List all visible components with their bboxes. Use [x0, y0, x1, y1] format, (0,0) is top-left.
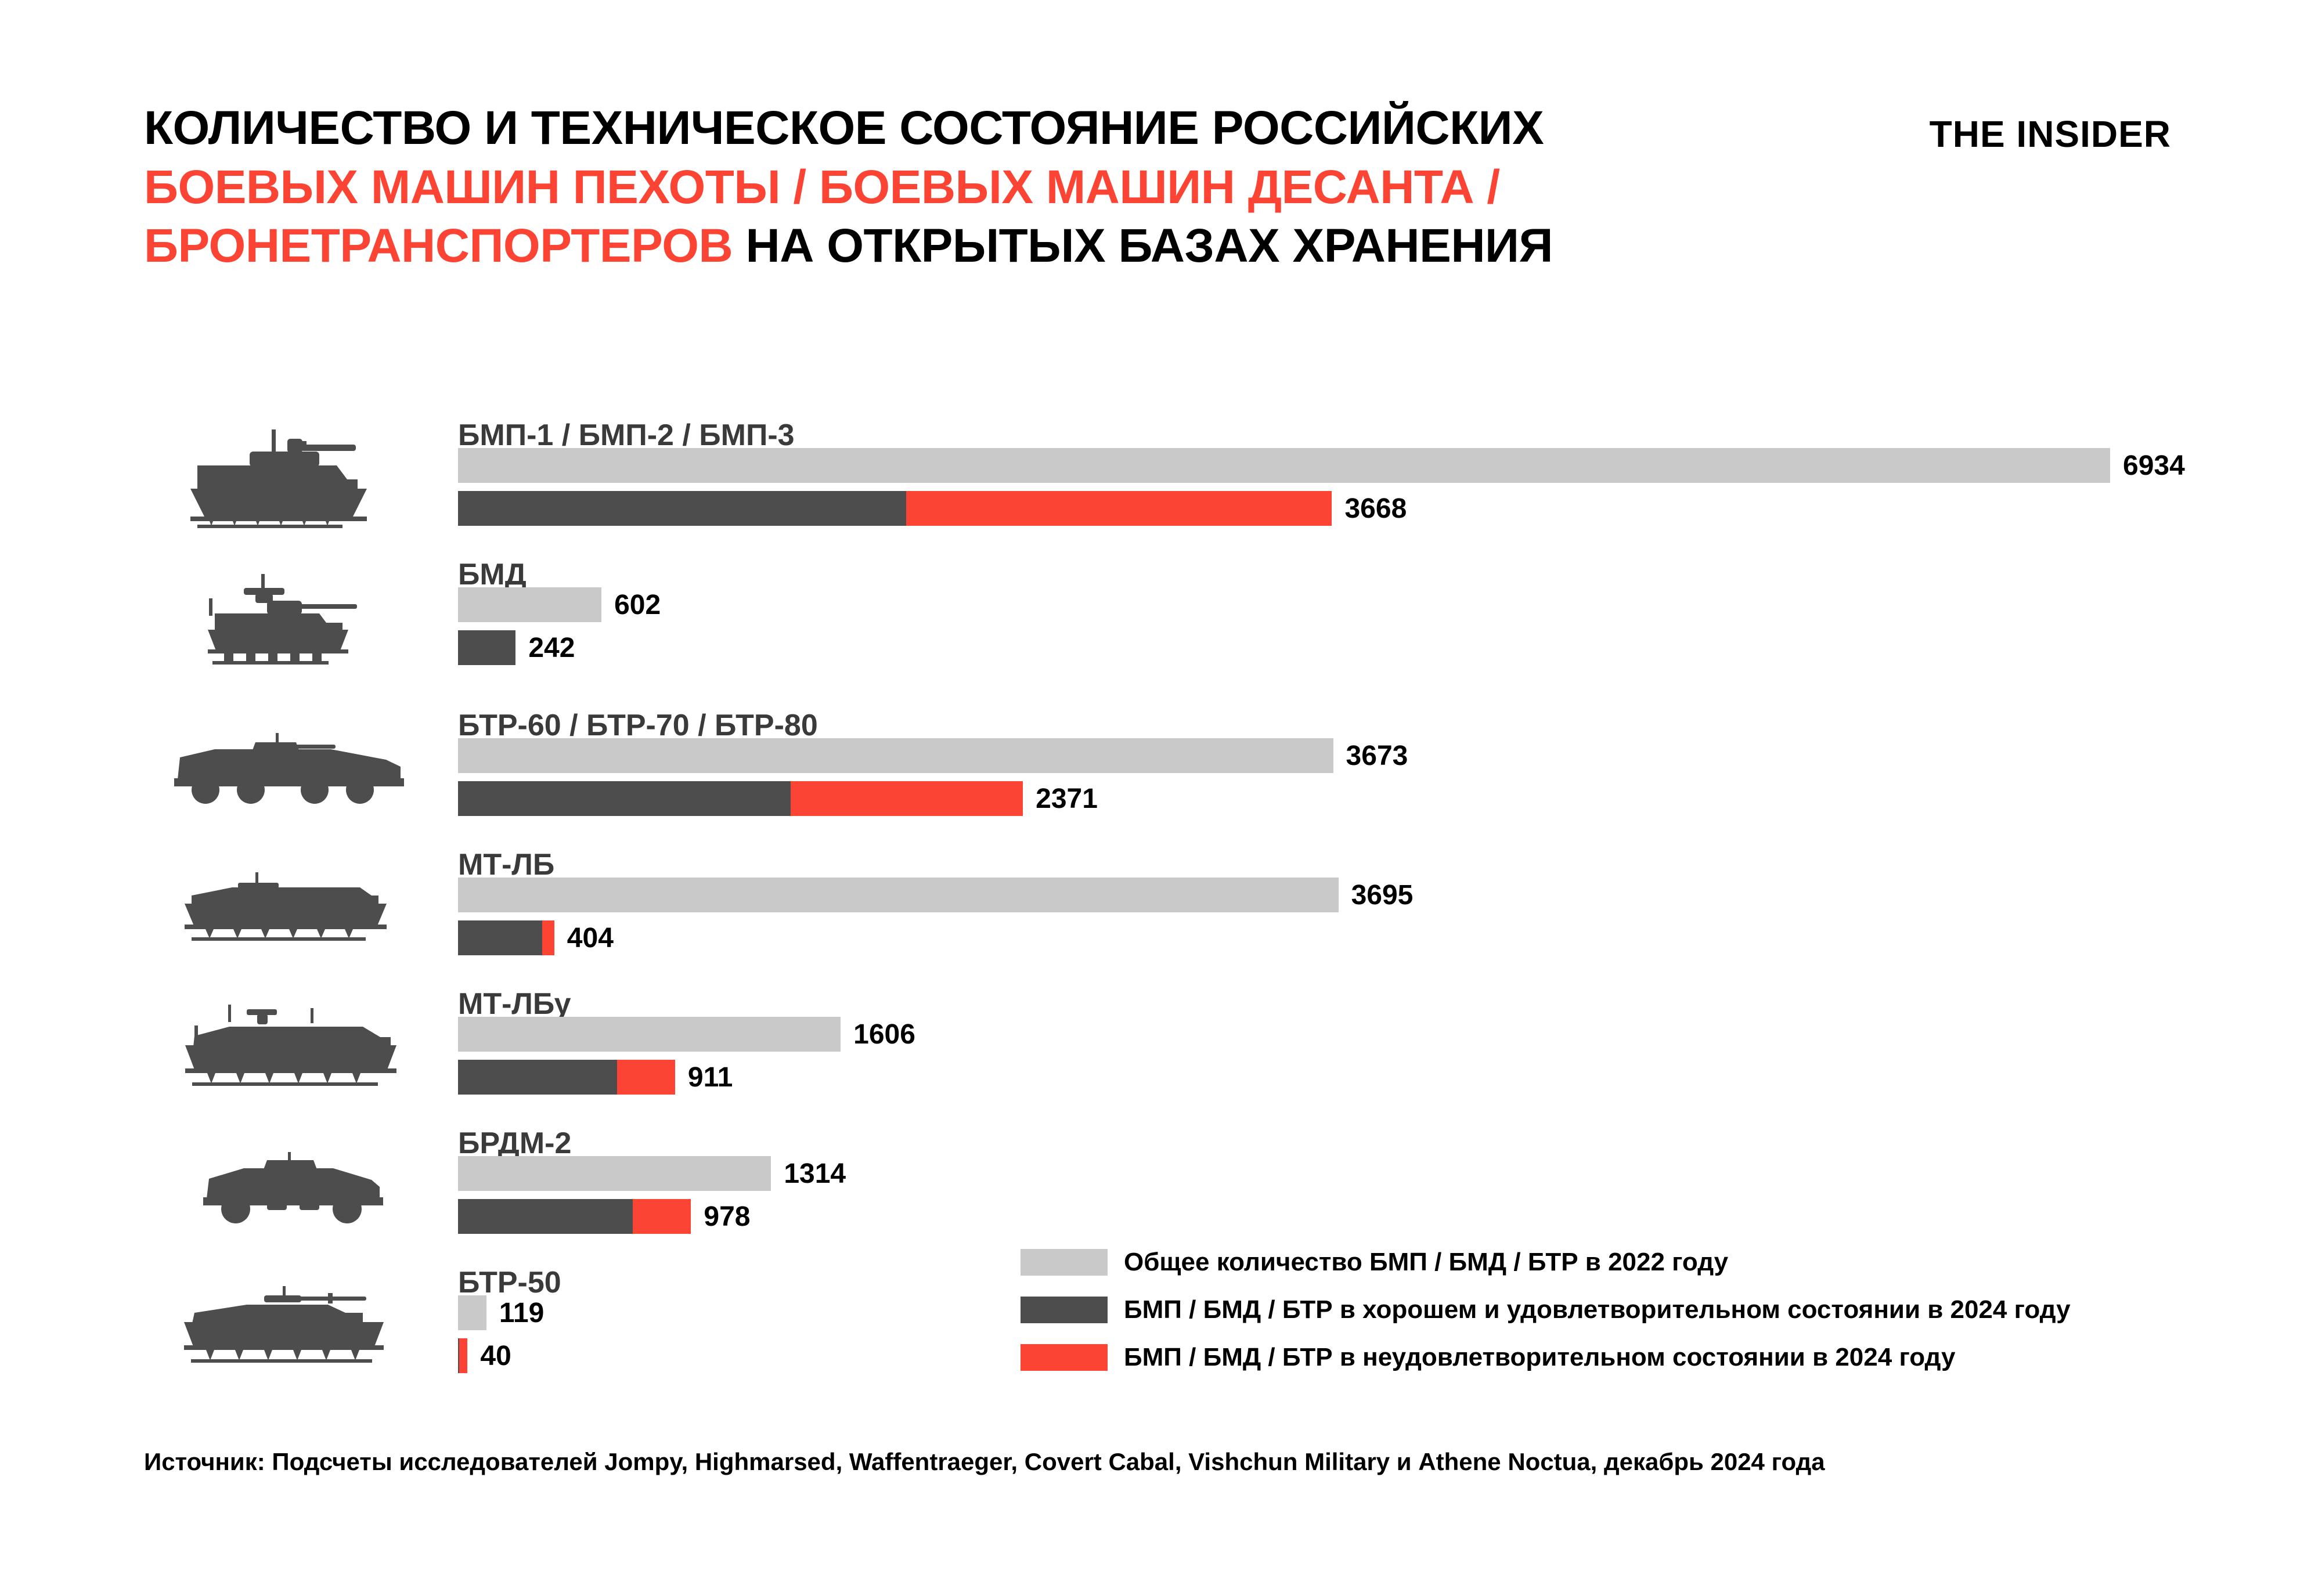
bar-value-total: 3695: [1351, 879, 1414, 911]
bar-total-2022: 1606: [458, 1017, 915, 1052]
category-label: БТР-60 / БТР-70 / БТР-80: [458, 708, 818, 743]
legend-item: БМП / БМД / БТР в хорошем и удовлетворит…: [1021, 1295, 2071, 1324]
bar-value-total: 6934: [2123, 450, 2185, 482]
bar-segment-good: [458, 1060, 617, 1095]
bar-value-stacked: 2371: [1036, 783, 1098, 815]
bmd-icon: [145, 563, 435, 676]
bar-total-2022: 6934: [458, 448, 2185, 483]
bar-segment-total: [458, 878, 1339, 912]
bar-condition-2024: 3668: [458, 491, 1407, 526]
bar-value-stacked: 978: [704, 1201, 750, 1233]
bar-value-stacked: 3668: [1344, 493, 1407, 525]
category-label: БРДМ-2: [458, 1126, 571, 1161]
page-title: КОЛИЧЕСТВО И ТЕХНИЧЕСКОЕ СОСТОЯНИЕ РОССИ…: [144, 99, 1914, 276]
bar-condition-2024: 2371: [458, 781, 1098, 816]
title-line-1: КОЛИЧЕСТВО И ТЕХНИЧЕСКОЕ СОСТОЯНИЕ РОССИ…: [144, 102, 1544, 154]
bar-value-stacked: 40: [480, 1340, 511, 1372]
bar-total-2022: 3695: [458, 878, 1413, 912]
category-label: МТ-ЛБ: [458, 847, 554, 882]
category-label: БМП-1 / БМП-2 / БМП-3: [458, 418, 795, 453]
bar-segment-total: [458, 1295, 486, 1330]
bar-segment-good: [458, 630, 515, 665]
legend-label: БМП / БМД / БТР в хорошем и удовлетворит…: [1124, 1295, 2071, 1324]
bar-value-total: 602: [614, 589, 661, 621]
bar-segment-total: [458, 448, 2110, 483]
bar-condition-2024: 404: [458, 920, 614, 955]
mtlb-icon: [145, 853, 435, 966]
bar-total-2022: 602: [458, 587, 661, 622]
bar-segment-bad: [617, 1060, 675, 1095]
category-label: МТ-ЛБу: [458, 987, 571, 1021]
legend-item: Общее количество БМП / БМД / БТР в 2022 …: [1021, 1248, 2071, 1277]
source-note: Источник: Подсчеты исследователей Jompy,…: [144, 1448, 1825, 1476]
legend-item: БМП / БМД / БТР в неудовлетворительном с…: [1021, 1343, 2071, 1372]
bar-value-stacked: 911: [688, 1061, 733, 1093]
bar-segment-good: [458, 920, 542, 955]
brdm-icon: [145, 1132, 435, 1244]
bar-condition-2024: 40: [458, 1338, 511, 1373]
bar-value-total: 1314: [784, 1158, 846, 1190]
bar-condition-2024: 242: [458, 630, 575, 665]
bar-segment-total: [458, 1156, 771, 1191]
category-label: БТР-50: [458, 1265, 561, 1300]
bar-segment-bad: [633, 1199, 691, 1234]
chart-legend: Общее количество БМП / БМД / БТР в 2022 …: [1021, 1248, 2071, 1391]
bar-segment-total: [458, 587, 601, 622]
legend-swatch-total: [1021, 1249, 1108, 1276]
infographic-page: КОЛИЧЕСТВО И ТЕХНИЧЕСКОЕ СОСТОЯНИЕ РОССИ…: [0, 0, 2322, 1596]
legend-label: Общее количество БМП / БМД / БТР в 2022 …: [1124, 1248, 1728, 1277]
bar-value-stacked: 404: [567, 922, 614, 954]
bar-total-2022: 1314: [458, 1156, 846, 1191]
title-line-3-red: БРОНЕТРАНСПОРТЕРОВ: [144, 219, 733, 272]
bmp-icon: [145, 424, 435, 536]
bar-segment-good: [458, 491, 906, 526]
legend-swatch-good: [1021, 1297, 1108, 1323]
bar-total-2022: 119: [458, 1295, 544, 1330]
bar-segment-bad: [791, 781, 1023, 816]
bar-segment-bad: [459, 1338, 467, 1373]
bar-condition-2024: 978: [458, 1199, 750, 1234]
title-line-3-black: НА ОТКРЫТЫХ БАЗАХ ХРАНЕНИЯ: [733, 219, 1553, 272]
bar-segment-bad: [906, 491, 1332, 526]
bar-segment-bad: [542, 920, 554, 955]
title-line-2: БОЕВЫХ МАШИН ПЕХОТЫ / БОЕВЫХ МАШИН ДЕСАН…: [144, 161, 1500, 214]
bar-segment-good: [458, 781, 791, 816]
bar-segment-total: [458, 1017, 841, 1052]
bar-value-total: 119: [499, 1297, 544, 1329]
header: КОЛИЧЕСТВО И ТЕХНИЧЕСКОЕ СОСТОЯНИЕ РОССИ…: [144, 99, 2176, 276]
btr-icon: [145, 714, 435, 826]
brand-logo: THE INSIDER: [1930, 113, 2171, 156]
bar-total-2022: 3673: [458, 738, 1408, 773]
bar-value-stacked: 242: [528, 632, 575, 664]
mtlbu-icon: [145, 992, 435, 1105]
bar-value-total: 1606: [853, 1019, 915, 1050]
bar-condition-2024: 911: [458, 1060, 733, 1095]
btr50-icon: [145, 1271, 435, 1384]
legend-swatch-bad: [1021, 1344, 1108, 1371]
category-label: БМД: [458, 557, 527, 592]
legend-label: БМП / БМД / БТР в неудовлетворительном с…: [1124, 1343, 1955, 1372]
bar-segment-good: [458, 1199, 633, 1234]
bar-value-total: 3673: [1346, 740, 1408, 772]
bar-segment-total: [458, 738, 1333, 773]
